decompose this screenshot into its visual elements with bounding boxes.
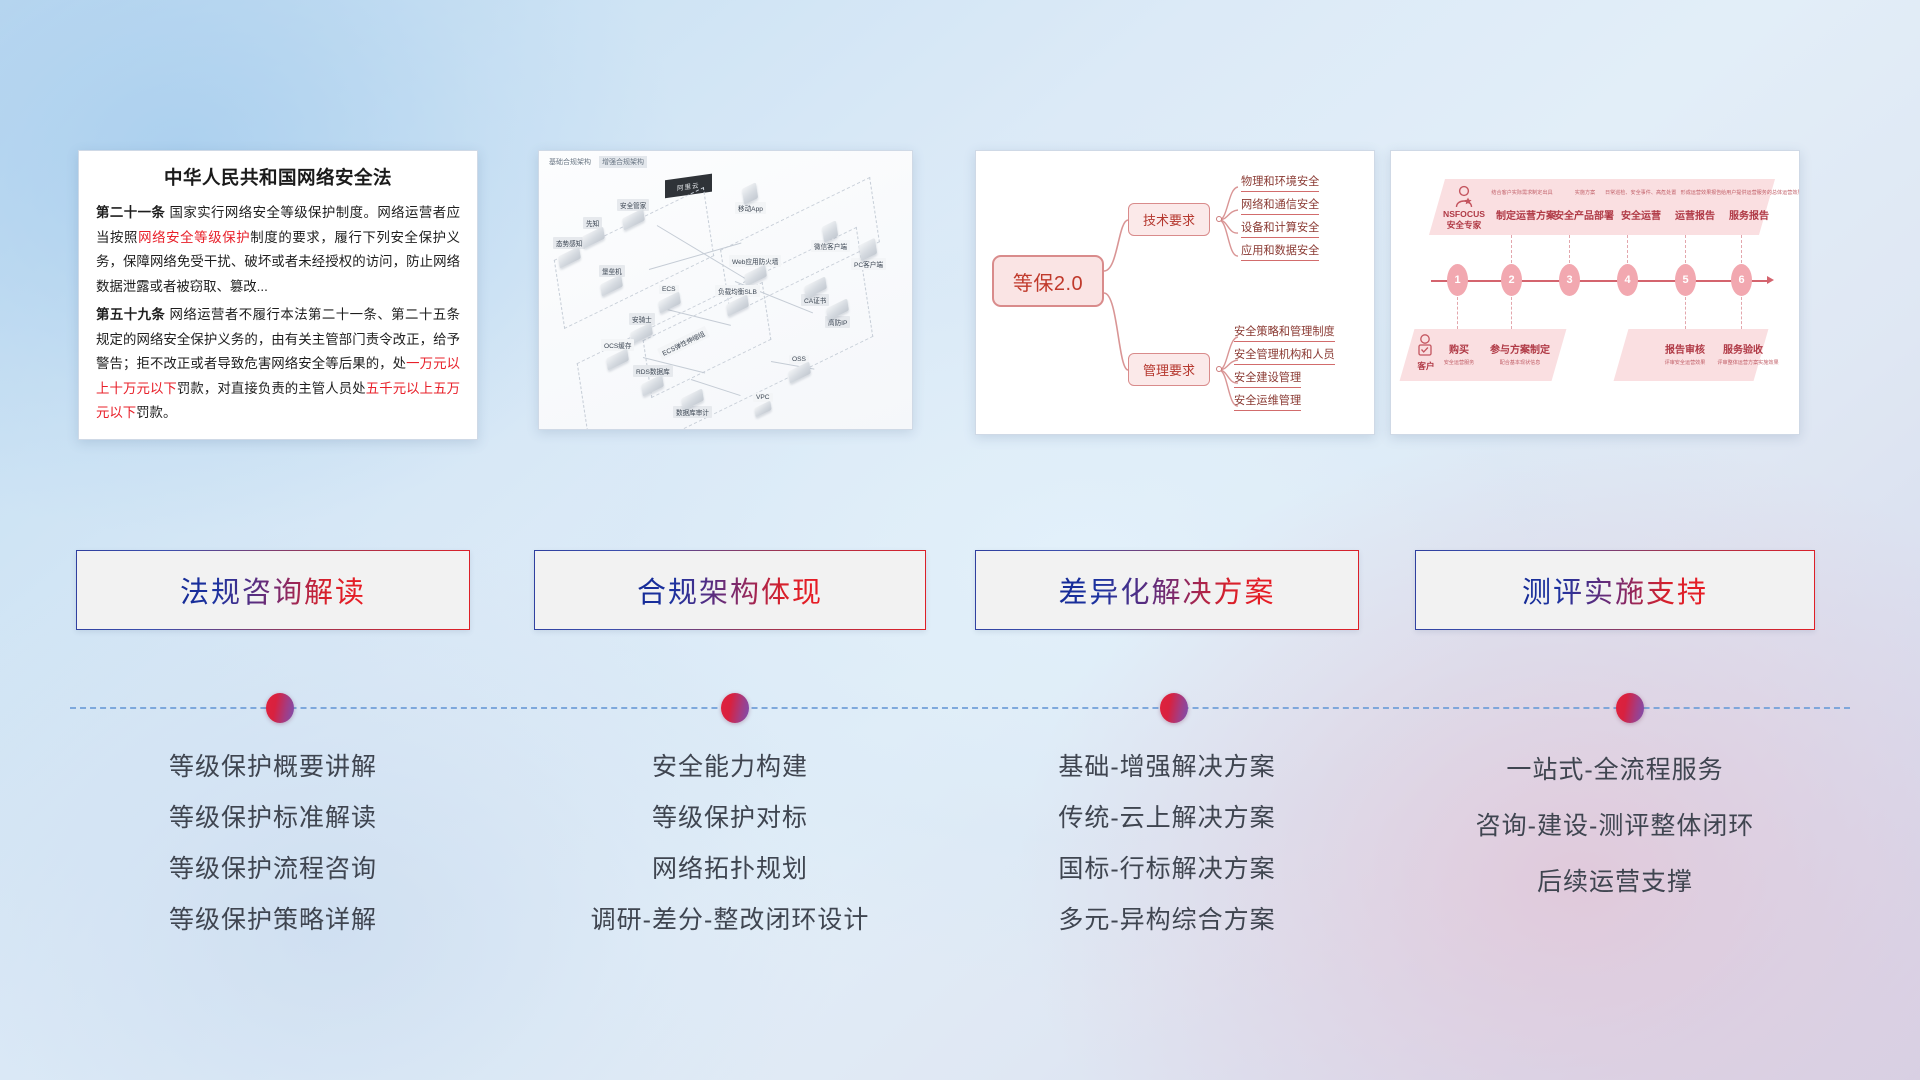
list-item: 等级保护流程咨询 [76, 844, 470, 895]
detail-list-compliance-architecture: 安全能力构建 等级保护对标 网络拓扑规划 调研-差分-整改闭环设计 [534, 742, 926, 946]
node-wechat-client[interactable]: 微信客户端 [811, 221, 850, 252]
list-item: 基础-增强解决方案 [975, 742, 1359, 793]
process-tick-6 [1741, 235, 1742, 263]
slide-canvas: 中华人民共和国网络安全法 第二十一条 国家实行网络安全等级保护制度。网络运营者应… [0, 0, 1920, 1080]
list-item: 后续运营支撑 [1415, 854, 1815, 910]
process-bottom-title-1: 购买 [1439, 341, 1479, 356]
card-law-document[interactable]: 中华人民共和国网络安全法 第二十一条 国家实行网络安全等级保护制度。网络运营者应… [78, 150, 478, 440]
node-bastion-host[interactable]: 堡垒机 [599, 265, 625, 292]
node-vpc[interactable]: VPC [753, 393, 773, 414]
process-timeline-diagram: NSFOCUS 安全专家 客户 结合客户实际需求制定出具 实施方案 日常巡检、安… [1391, 151, 1799, 434]
process-top-sub-3: 日常巡检、安全事件、高危处置 [1605, 189, 1675, 196]
law-paragraph-21: 第二十一条 国家实行网络安全等级保护制度。网络运营者应当按照网络安全等级保护制度… [96, 201, 460, 299]
node-oss[interactable]: OSS [789, 355, 810, 379]
vendor-label: NSFOCUS 安全专家 [1435, 209, 1493, 231]
mindmap-leaf-construction-mgmt[interactable]: 安全建设管理 [1234, 369, 1301, 388]
node-slb[interactable]: 负载均衡SLB [715, 285, 760, 312]
mindmap-branch-management[interactable]: 管理要求 [1128, 353, 1210, 386]
mindmap-leaf-app-data[interactable]: 应用和数据安全 [1241, 242, 1319, 261]
process-top-title-2: 安全产品部署 [1549, 207, 1619, 222]
list-item: 等级保护概要讲解 [76, 742, 470, 793]
pillar-button-label: 差异化解决方案 [1058, 569, 1275, 611]
mindmap-branch-technical[interactable]: 技术要求 [1128, 203, 1210, 236]
list-item: 等级保护对标 [534, 793, 926, 844]
process-top-sub-5: 给用户提供运营服务的总体运营效果 [1721, 189, 1795, 196]
process-tick-5 [1685, 235, 1686, 263]
card-mindmap-dengbao[interactable]: 等保2.0 技术要求 管理要求 物理和环境安全 网络和通信安全 设备和计算安全 … [975, 150, 1375, 435]
mindmap-collapse-dot-technical[interactable] [1216, 216, 1222, 222]
process-axis-arrow-icon [1767, 276, 1774, 284]
node-anti-ddos-ip[interactable]: 高防IP [825, 301, 850, 328]
node-xianzhi[interactable]: 先知 [583, 217, 604, 244]
process-tick-b1 [1457, 297, 1458, 329]
architecture-diagram: 基础合规架构 增强合规架构 阿里云 态势感知 先知 [539, 151, 912, 429]
node-situational-awareness[interactable]: 态势感知 [553, 237, 585, 264]
detail-list-regulation-consulting: 等级保护概要讲解 等级保护标准解读 等级保护流程咨询 等级保护策略详解 [76, 742, 470, 946]
timeline-dot-3[interactable] [1160, 693, 1188, 723]
cube-icon [788, 361, 811, 383]
process-bottom-sub-2: 配合基本现状信息 [1485, 359, 1555, 366]
list-item: 调研-差分-整改闭环设计 [534, 895, 926, 946]
process-tick-2 [1511, 235, 1512, 263]
pillar-button-row: 法规咨询解读 合规架构体现 差异化解决方案 测评实施支持 [0, 550, 1920, 650]
mindmap-root-node[interactable]: 等保2.0 [992, 255, 1104, 307]
timeline-dashed-line [70, 707, 1850, 709]
node-db-audit[interactable]: 数据库审计 [673, 391, 712, 418]
process-bottom-sub-4: 评审整体运营方案实施效果 [1711, 359, 1785, 366]
mindmap-collapse-dot-management[interactable] [1216, 366, 1222, 372]
timeline-dot-2[interactable] [721, 693, 749, 723]
mindmap-diagram: 等保2.0 技术要求 管理要求 物理和环境安全 网络和通信安全 设备和计算安全 … [976, 151, 1374, 434]
law-article-59-heading: 第五十九条 [96, 307, 165, 322]
process-tick-b4 [1741, 297, 1742, 329]
list-item: 网络拓扑规划 [534, 844, 926, 895]
mindmap-leaf-network-comm[interactable]: 网络和通信安全 [1241, 196, 1319, 215]
timeline-dot-1[interactable] [266, 693, 294, 723]
process-bottom-title-2: 参与方案制定 [1485, 341, 1555, 356]
list-item: 等级保护策略详解 [76, 895, 470, 946]
process-top-sub-2: 实施方案 [1559, 189, 1611, 196]
list-item: 一站式-全流程服务 [1415, 742, 1815, 798]
pillar-button-differentiated-solution[interactable]: 差异化解决方案 [975, 550, 1359, 630]
list-item: 安全能力构建 [534, 742, 926, 793]
pillar-button-compliance-architecture[interactable]: 合规架构体现 [534, 550, 926, 630]
tab-enhanced-architecture[interactable]: 增强合规架构 [599, 156, 647, 168]
law-article-21-heading: 第二十一条 [96, 205, 165, 220]
law-59-seg-3: 罚款，对直接负责的主管人员处 [177, 381, 366, 396]
list-item: 咨询-建设-测评整体闭环 [1415, 798, 1815, 854]
node-waf[interactable]: Web应用防火墙 [729, 255, 781, 282]
list-item: 国标-行标解决方案 [975, 844, 1359, 895]
process-tick-b3 [1685, 297, 1686, 329]
expert-person-icon [1453, 185, 1475, 209]
process-tick-b2 [1511, 297, 1512, 329]
process-bottom-title-4: 服务验收 [1715, 341, 1771, 356]
process-bottom-title-3: 报告审核 [1657, 341, 1713, 356]
detail-list-differentiated-solution: 基础-增强解决方案 传统-云上解决方案 国标-行标解决方案 多元-异构综合方案 [975, 742, 1359, 946]
node-rds-database[interactable]: RDS数据库 [633, 365, 673, 392]
process-step-4[interactable]: 4 [1617, 264, 1638, 296]
tab-basic-architecture[interactable]: 基础合规架构 [546, 156, 594, 168]
vendor-label-line1: NSFOCUS [1443, 209, 1485, 219]
node-pc-client[interactable]: PC客户端 [851, 239, 886, 270]
detail-list-assessment-support: 一站式-全流程服务 咨询-建设-测评整体闭环 后续运营支撑 [1415, 742, 1815, 910]
law-title: 中华人民共和国网络安全法 [96, 164, 460, 190]
node-anqishi[interactable]: 安骑士 [629, 313, 655, 340]
mindmap-leaf-policy-system[interactable]: 安全策略和管理制度 [1234, 323, 1335, 342]
list-item: 多元-异构综合方案 [975, 895, 1359, 946]
architecture-tabs[interactable]: 基础合规架构 增强合规架构 [546, 156, 647, 168]
node-mobile-app[interactable]: 移动App [735, 183, 766, 214]
process-step-3[interactable]: 3 [1559, 264, 1580, 296]
process-step-5[interactable]: 5 [1675, 264, 1696, 296]
vendor-label-line2: 安全专家 [1447, 220, 1481, 230]
card-nsfocus-process[interactable]: NSFOCUS 安全专家 客户 结合客户实际需求制定出具 实施方案 日常巡检、安… [1390, 150, 1800, 435]
pillar-detail-lists: 等级保护概要讲解 等级保护标准解读 等级保护流程咨询 等级保护策略详解 安全能力… [0, 742, 1920, 982]
timeline [70, 693, 1850, 723]
process-top-title-4: 运营报告 [1667, 207, 1723, 222]
timeline-dot-4[interactable] [1616, 693, 1644, 723]
node-ocs-cache[interactable]: OCS缓存 [601, 339, 634, 366]
process-tick-3 [1569, 235, 1570, 263]
process-top-title-3: 安全运营 [1613, 207, 1669, 222]
process-top-sub-1: 结合客户实际需求制定出具 [1491, 189, 1553, 196]
cards-row: 中华人民共和国网络安全法 第二十一条 国家实行网络安全等级保护制度。网络运营者应… [0, 150, 1920, 450]
process-axis-line [1431, 280, 1769, 282]
mindmap-leaf-physical-env[interactable]: 物理和环境安全 [1241, 173, 1319, 192]
law-21-seg-highlight: 网络安全等级保护 [138, 230, 250, 245]
customer-person-icon [1415, 333, 1435, 359]
card-cloud-architecture[interactable]: 基础合规架构 增强合规架构 阿里云 态势感知 先知 [538, 150, 913, 430]
process-step-2[interactable]: 2 [1501, 264, 1522, 296]
node-security-steward[interactable]: 安全管家 [617, 199, 649, 226]
process-step-6[interactable]: 6 [1731, 264, 1752, 296]
pillar-button-regulation-consulting[interactable]: 法规咨询解读 [76, 550, 470, 630]
process-top-title-1: 制定运营方案 [1495, 207, 1557, 222]
mindmap-leaf-device-compute[interactable]: 设备和计算安全 [1241, 219, 1319, 238]
pillar-button-label: 测评实施支持 [1522, 569, 1708, 611]
process-tick-4 [1627, 235, 1628, 263]
pillar-button-assessment-support[interactable]: 测评实施支持 [1415, 550, 1815, 630]
process-step-1[interactable]: 1 [1447, 264, 1468, 296]
list-item: 等级保护标准解读 [76, 793, 470, 844]
pillar-button-label: 合规架构体现 [637, 569, 823, 611]
law-paragraph-59: 第五十九条 网络运营者不履行本法第二十一条、第二十五条规定的网络安全保护义务的，… [96, 303, 460, 426]
pillar-button-label: 法规咨询解读 [180, 569, 366, 611]
mindmap-leaf-ops-mgmt[interactable]: 安全运维管理 [1234, 392, 1301, 411]
process-bottom-sub-3: 评审安全运营效果 [1653, 359, 1717, 366]
cube-icon [754, 400, 771, 417]
node-ecs[interactable]: ECS [659, 285, 680, 309]
process-bottom-sub-1: 安全运营服务 [1437, 359, 1481, 366]
customer-label: 客户 [1413, 361, 1439, 372]
process-top-title-5: 服务报告 [1721, 207, 1777, 222]
list-item: 传统-云上解决方案 [975, 793, 1359, 844]
law-59-seg-5: 罚款。 [136, 405, 176, 420]
mindmap-leaf-org-personnel[interactable]: 安全管理机构和人员 [1234, 346, 1335, 365]
